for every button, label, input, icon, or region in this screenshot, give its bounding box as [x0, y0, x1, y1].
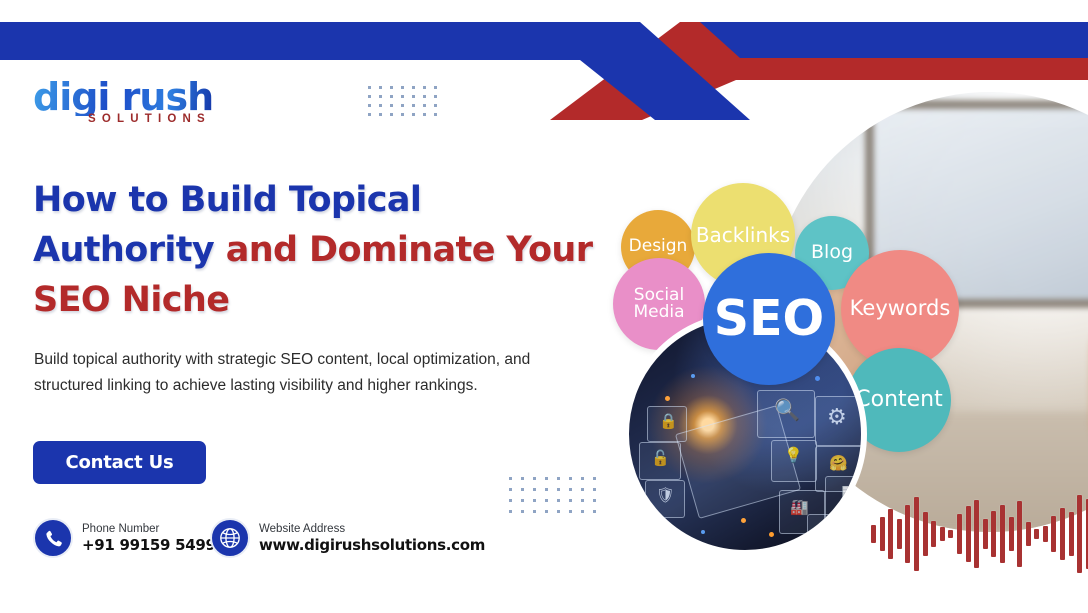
dot-grid-bottom	[509, 477, 605, 521]
waveform-bar	[880, 517, 885, 551]
waveform-bar	[1034, 529, 1039, 539]
dot	[521, 510, 524, 513]
contact-website[interactable]: Website Address www.digirushsolutions.co…	[210, 518, 485, 558]
dot	[401, 95, 404, 98]
dot	[545, 499, 548, 502]
dot	[390, 113, 393, 116]
dot	[423, 86, 426, 89]
dot	[533, 510, 536, 513]
dot	[581, 488, 584, 491]
contact-phone-text: Phone Number +91 99159 54999	[82, 522, 226, 555]
dot	[533, 499, 536, 502]
dot	[545, 477, 548, 480]
dot	[434, 95, 437, 98]
lock-icon: 🔒	[659, 414, 678, 429]
dot	[368, 104, 371, 107]
gear-icon: ⚙	[827, 406, 847, 428]
contact-website-value: www.digirushsolutions.com	[259, 536, 485, 555]
dot	[521, 488, 524, 491]
dot	[509, 510, 512, 513]
dot	[557, 499, 560, 502]
dot	[390, 104, 393, 107]
waveform-bar	[1060, 508, 1065, 560]
waveform-bar	[871, 525, 876, 543]
dot	[390, 86, 393, 89]
waveform-bar	[914, 497, 919, 571]
globe-icon	[210, 518, 250, 558]
dot	[401, 104, 404, 107]
dot	[533, 477, 536, 480]
dot	[379, 104, 382, 107]
dot	[581, 510, 584, 513]
dot	[379, 113, 382, 116]
unlock-icon: 🔓	[651, 451, 670, 466]
factory-icon: 🏭	[790, 500, 809, 515]
seo-bubble-seo: SEO	[703, 253, 835, 385]
waveform-bar	[957, 514, 962, 554]
hero-artwork: DesignBacklinksBlogKeywordsSocial MediaS…	[595, 0, 1088, 613]
waveform-bar	[983, 519, 988, 549]
dot	[557, 477, 560, 480]
waveform-bar	[1009, 517, 1014, 551]
headline-part-1: How to Build Topical	[33, 180, 421, 220]
dot	[368, 95, 371, 98]
waveform-bar	[1077, 495, 1082, 573]
spark	[815, 376, 820, 381]
dot	[390, 95, 393, 98]
dot	[521, 499, 524, 502]
contact-phone[interactable]: Phone Number +91 99159 54999	[33, 518, 226, 558]
dot	[569, 477, 572, 480]
lightbulb-icon: 💡	[784, 448, 803, 463]
waveform-bar	[1000, 505, 1005, 563]
phone-icon	[33, 518, 73, 558]
brand-logo[interactable]: digi rush SOLUTIONS	[33, 78, 213, 125]
dot	[545, 488, 548, 491]
waveform-bar	[923, 512, 928, 556]
waveform-bar	[1069, 512, 1074, 556]
dot	[569, 488, 572, 491]
dot	[509, 499, 512, 502]
dot	[434, 86, 437, 89]
shield-icon: 🛡	[656, 488, 675, 503]
dot	[434, 113, 437, 116]
waveform-bar	[948, 530, 953, 538]
dot	[379, 95, 382, 98]
contact-website-label: Website Address	[259, 522, 485, 536]
dot	[412, 113, 415, 116]
robot-arm-icon: 🤗	[829, 456, 848, 471]
dot	[423, 95, 426, 98]
dot	[368, 86, 371, 89]
body-description: Build topical authority with strategic S…	[34, 347, 554, 399]
dot	[434, 104, 437, 107]
dot	[557, 488, 560, 491]
cloud-icon: ☁	[821, 522, 836, 537]
dot	[412, 95, 415, 98]
marketing-banner: digi rush SOLUTIONS How to Build Topical…	[0, 0, 1088, 613]
dot	[557, 510, 560, 513]
page-title: How to Build Topical Authority and Domin…	[33, 175, 603, 325]
dot	[509, 477, 512, 480]
spark	[769, 532, 774, 537]
dot	[401, 113, 404, 116]
dot	[581, 499, 584, 502]
waveform-bar	[1051, 516, 1056, 552]
waveform-bar	[966, 506, 971, 562]
dot-grid-top	[368, 86, 445, 122]
spark	[691, 374, 695, 378]
dot	[412, 104, 415, 107]
logo-wordmark: digi rush	[33, 78, 213, 116]
dot	[545, 510, 548, 513]
headline-part-2: Authority	[33, 230, 226, 270]
headline-part-4: SEO Niche	[33, 280, 229, 320]
dot	[379, 86, 382, 89]
waveform-bar	[897, 519, 902, 549]
contact-us-button[interactable]: Contact Us	[33, 441, 206, 484]
contact-phone-value: +91 99159 54999	[82, 536, 226, 555]
dot	[581, 477, 584, 480]
dot	[423, 113, 426, 116]
waveform-bar	[888, 509, 893, 559]
headline-part-3: and Dominate Your	[226, 230, 593, 270]
contact-website-text: Website Address www.digirushsolutions.co…	[259, 522, 485, 555]
audio-waveform	[871, 492, 1088, 576]
dot	[412, 86, 415, 89]
dot	[401, 86, 404, 89]
waveform-bar	[974, 500, 979, 568]
waveform-bar	[991, 511, 996, 557]
waveform-bar	[1043, 526, 1048, 542]
phone-icon-glyph	[43, 528, 64, 549]
spark	[665, 396, 670, 401]
waveform-bar	[905, 505, 910, 563]
dot	[569, 499, 572, 502]
contact-phone-label: Phone Number	[82, 522, 226, 536]
globe-icon-glyph	[218, 526, 242, 550]
waveform-bar	[931, 521, 936, 547]
waveform-bar	[1026, 522, 1031, 546]
dot	[533, 488, 536, 491]
waveform-bar	[1017, 501, 1022, 567]
search-icon: 🔍	[774, 400, 800, 421]
waveform-bar	[940, 527, 945, 541]
spark	[741, 518, 746, 523]
dot	[423, 104, 426, 107]
spark	[701, 530, 705, 534]
dot	[569, 510, 572, 513]
dot	[509, 488, 512, 491]
dot	[521, 477, 524, 480]
dot	[368, 113, 371, 116]
